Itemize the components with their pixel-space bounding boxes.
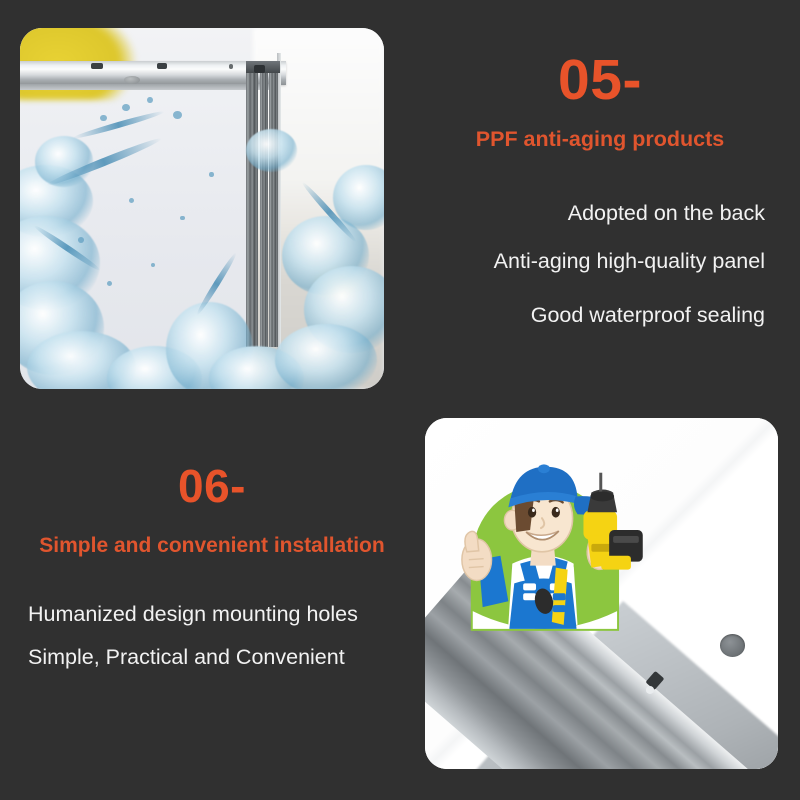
frame-screw-icon (229, 64, 233, 69)
water-droplet (209, 172, 213, 176)
poster-canvas: 05- PPF anti-aging products Adopted on t… (0, 0, 800, 800)
water-splash (246, 129, 297, 172)
frame-vertical-rail (260, 66, 268, 348)
frame-screw-icon (157, 63, 167, 69)
water-droplet (100, 115, 107, 121)
waterproof-frame-photo (20, 28, 384, 389)
water-droplet (173, 111, 182, 119)
mounting-hole-round (720, 634, 745, 657)
water-splash (275, 324, 377, 389)
water-droplet (129, 198, 134, 203)
section-subtitle-05: PPF anti-aging products (440, 129, 760, 151)
feature-text-05-1: Adopted on the back (420, 203, 765, 225)
waterproof-photo-content (20, 28, 384, 389)
section-number-05: 05- (440, 52, 760, 109)
section-subtitle-06: Simple and convenient installation (30, 535, 394, 556)
installation-photo-content (425, 418, 778, 769)
frame-corner-screw-icon (254, 65, 266, 74)
feature-text-05-3: Good waterproof sealing (420, 305, 765, 327)
feature-text-06-1: Humanized design mounting holes (28, 604, 358, 626)
water-droplet (122, 104, 130, 111)
feature-text-05-2: Anti-aging high-quality panel (420, 251, 765, 273)
frame-vertical-rail (246, 66, 259, 348)
frame-top-rail-shadow (20, 84, 280, 91)
water-droplet (180, 216, 184, 220)
section-number-06: 06- (30, 463, 394, 509)
frame-screw-icon (91, 63, 103, 69)
frame-vertical-rail (269, 66, 278, 348)
feature-text-06-2: Simple, Practical and Convenient (28, 647, 345, 669)
worker-mascot-illustration (453, 450, 651, 654)
installation-worker-photo (425, 418, 778, 769)
